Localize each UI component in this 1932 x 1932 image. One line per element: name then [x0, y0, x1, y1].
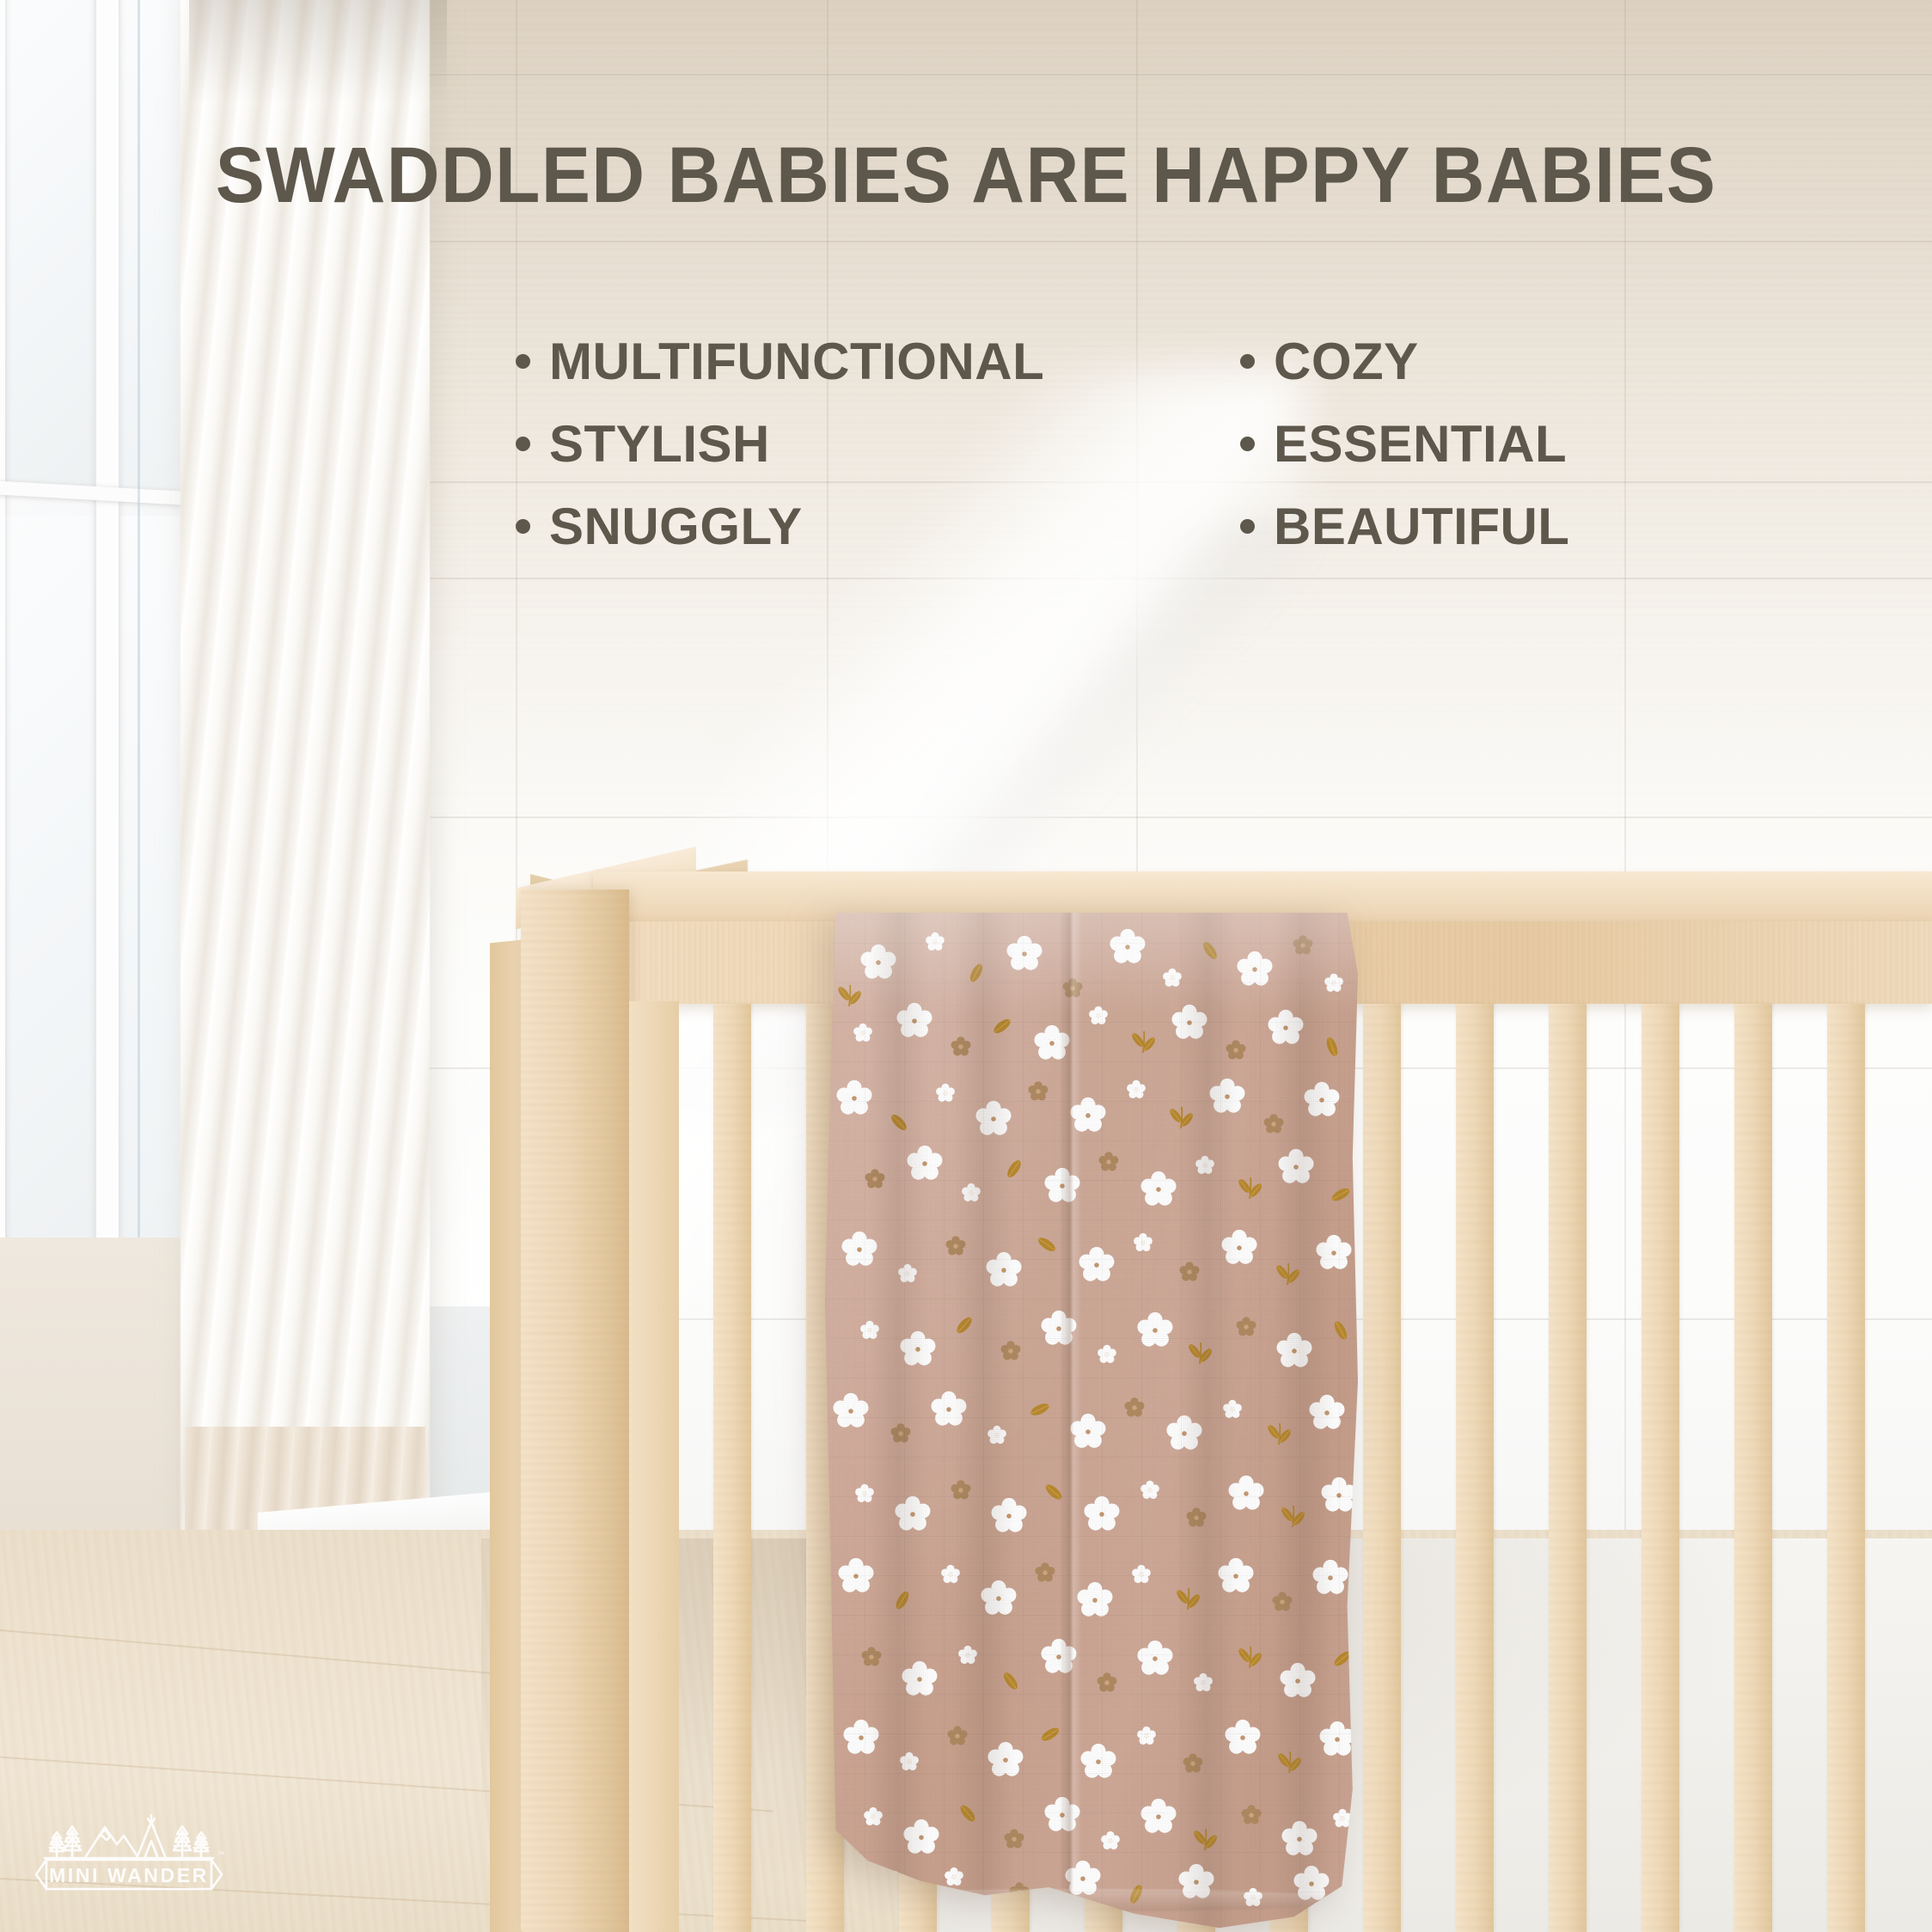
fabric-fold — [1273, 913, 1333, 1932]
crib-corner-post — [521, 890, 629, 1932]
blanket-fabric — [825, 913, 1358, 1932]
crib-inner-post — [629, 1001, 679, 1932]
crib-slat — [1549, 1004, 1587, 1932]
blanket-top-highlight — [825, 913, 1358, 1016]
fabric-fold — [868, 913, 928, 1932]
crib-slat — [1827, 1004, 1865, 1932]
fabric-fold — [1177, 913, 1237, 1932]
crib-slat — [1734, 1004, 1772, 1932]
crib-slat — [713, 1004, 751, 1932]
crib-slat — [1363, 1004, 1401, 1932]
crib-slat — [1456, 1004, 1494, 1932]
fabric-fold — [953, 913, 1013, 1932]
swaddle-blanket — [825, 913, 1358, 1932]
blanket-center-fold — [1060, 913, 1082, 1932]
product-lifestyle-scene: SWADDLED BABIES ARE HAPPY BABIES MULTIFU… — [0, 0, 1932, 1932]
crib-slat — [1642, 1004, 1679, 1932]
